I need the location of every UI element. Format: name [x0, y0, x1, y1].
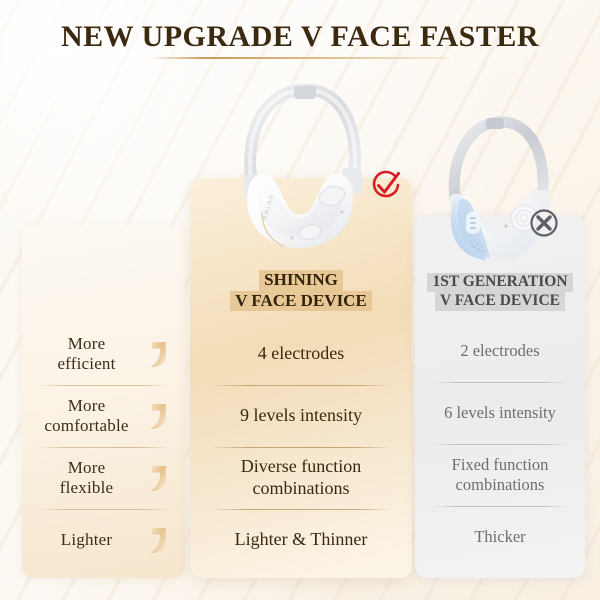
old-product-header-line2: V FACE DEVICE [435, 292, 565, 311]
new-product-header: SHINING V FACE DEVICE [190, 270, 412, 311]
old-product-card: 1ST GENERATION V FACE DEVICE 2 electrode… [415, 215, 585, 578]
new-product-header-line2: V FACE DEVICE [230, 291, 372, 312]
page-title-block: NEW UPGRADE V FACE FASTER [0, 22, 600, 59]
old-product-header-line1: 1ST GENERATION [427, 273, 572, 292]
new-product-feature-row: 9 levels intensity [190, 385, 412, 447]
new-product-feature-label: Diverse functioncombinations [229, 456, 373, 500]
cross-badge-icon [527, 206, 561, 240]
new-product-feature-row: Lighter & Thinner [190, 509, 412, 571]
curved-arrow-icon [145, 525, 171, 555]
new-product-feature-list: 4 electrodes9 levels intensityDiverse fu… [190, 323, 412, 571]
benefit-label: Lighter [22, 530, 151, 550]
new-product-feature-row: 4 electrodes [190, 323, 412, 385]
old-product-header: 1ST GENERATION V FACE DEVICE [415, 273, 585, 311]
old-product-feature-row: 2 electrodes [415, 320, 585, 382]
title-underline [150, 57, 450, 59]
benefit-label: Moreefficient [22, 334, 151, 375]
check-badge-icon [369, 168, 403, 202]
old-product-feature-list: 2 electrodes6 levels intensityFixed func… [415, 320, 585, 568]
old-product-feature-row: Fixed functioncombinations [415, 444, 585, 506]
old-product-feature-label: 2 electrodes [450, 341, 549, 361]
infographic-canvas: NEW UPGRADE V FACE FASTER MoreefficientM… [0, 0, 600, 600]
new-product-feature-label: 9 levels intensity [228, 405, 374, 427]
curved-arrow-icon [145, 463, 171, 493]
new-product-feature-label: Lighter & Thinner [223, 529, 380, 551]
white-v-face-lifting-device-image: AMLAN [218, 72, 384, 248]
benefits-row-list: MoreefficientMorecomfortableMoreflexible… [22, 323, 185, 571]
benefit-row: Moreflexible [22, 447, 185, 509]
curved-arrow-icon [145, 339, 171, 369]
benefits-card: MoreefficientMorecomfortableMoreflexible… [22, 225, 185, 578]
curved-arrow-icon [145, 401, 171, 431]
page-title: NEW UPGRADE V FACE FASTER [0, 22, 600, 52]
new-product-header-line1: SHINING [259, 270, 343, 291]
old-product-feature-row: 6 levels intensity [415, 382, 585, 444]
new-product-feature-row: Diverse functioncombinations [190, 447, 412, 509]
old-product-feature-label: Fixed functioncombinations [442, 455, 559, 496]
new-product-feature-label: 4 electrodes [246, 343, 356, 365]
benefit-row: Moreefficient [22, 323, 185, 385]
benefit-label: Morecomfortable [22, 396, 151, 437]
benefit-row: Morecomfortable [22, 385, 185, 447]
benefit-row: Lighter [22, 509, 185, 571]
old-product-feature-row: Thicker [415, 506, 585, 568]
old-product-feature-label: Thicker [464, 527, 535, 547]
old-product-feature-label: 6 levels intensity [434, 403, 566, 423]
benefit-label: Moreflexible [22, 458, 151, 499]
